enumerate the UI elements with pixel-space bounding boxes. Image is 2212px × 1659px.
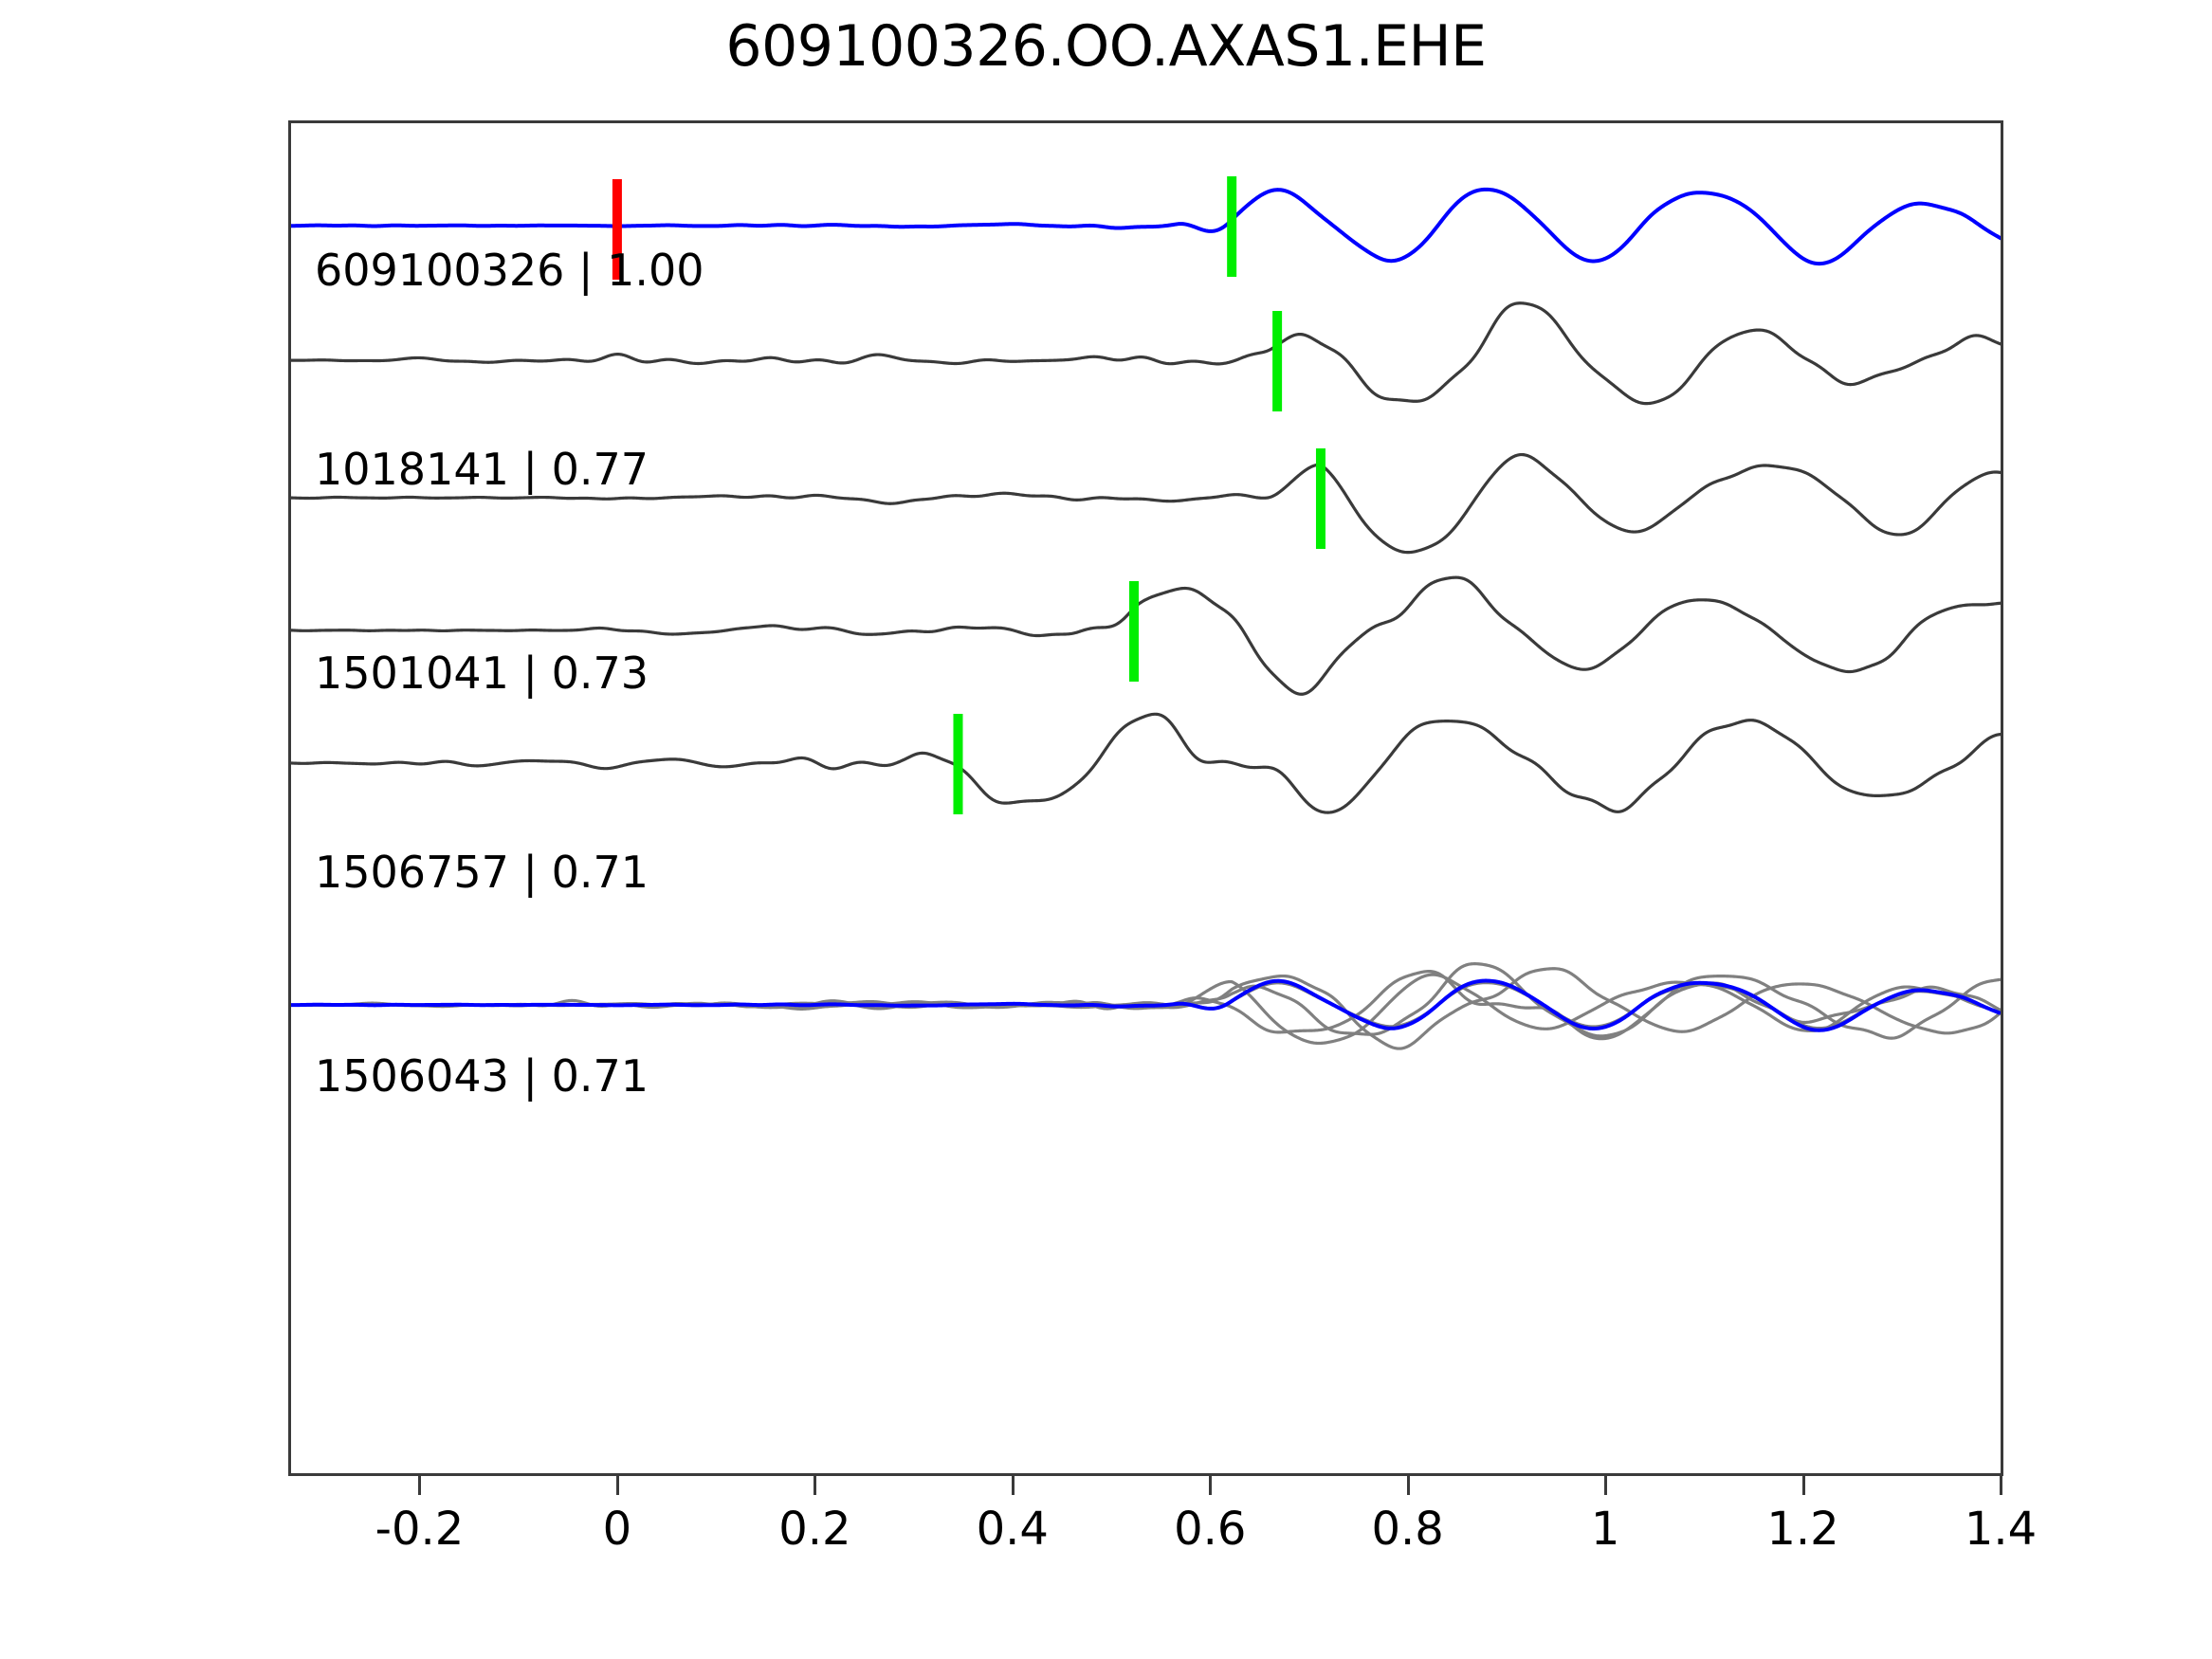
waveform-canvas (291, 123, 2001, 1473)
pick-marker-1018141[interactable] (1272, 311, 1282, 411)
x-tick-label: -0.2 (375, 1503, 465, 1556)
x-tick-mark (814, 1474, 816, 1495)
waveform-trace-1506043 (291, 714, 2001, 812)
x-tick-mark (1209, 1474, 1212, 1495)
trace-label-1501041: 1501041 | 0.73 (315, 647, 649, 699)
trace-label-1506043: 1506043 | 0.71 (315, 1050, 649, 1102)
pick-marker-609100326[interactable] (1227, 176, 1236, 277)
overlay-trace-gray-3 (291, 969, 2001, 1048)
x-tick-label: 0.8 (1372, 1503, 1444, 1556)
x-tick-label: 1 (1591, 1503, 1620, 1556)
x-tick-label: 0.6 (1174, 1503, 1246, 1556)
x-tick-mark (1802, 1474, 1805, 1495)
figure-root: 609100326.OO.AXAS1.EHE -0.200.20.40.60.8… (0, 0, 2212, 1659)
waveform-trace-1018141 (291, 303, 2001, 404)
x-tick-mark (1012, 1474, 1015, 1495)
trace-label-1506757: 1506757 | 0.71 (315, 847, 649, 898)
x-tick-label: 1.2 (1766, 1503, 1838, 1556)
pick-marker-1506757[interactable] (1129, 581, 1139, 682)
x-tick-mark (1407, 1474, 1410, 1495)
page-title: 609100326.OO.AXAS1.EHE (0, 13, 2212, 80)
x-tick-mark (2000, 1474, 2002, 1495)
pick-marker-1506043[interactable] (953, 714, 962, 814)
trace-label-1018141: 1018141 | 0.77 (315, 444, 649, 495)
x-tick-label: 0.4 (977, 1503, 1049, 1556)
x-tick-label: 1.4 (1965, 1503, 2037, 1556)
x-tick-label: 0.2 (778, 1503, 850, 1556)
plot-axes-frame (288, 120, 2003, 1476)
trace-label-609100326: 609100326 | 1.00 (315, 245, 704, 296)
x-tick-mark (418, 1474, 421, 1495)
overlay-trace-template (291, 981, 2001, 1030)
x-tick-mark (1604, 1474, 1607, 1495)
x-tick-mark (616, 1474, 619, 1495)
x-tick-label: 0 (603, 1503, 632, 1556)
pick-marker-1501041[interactable] (1316, 448, 1325, 549)
